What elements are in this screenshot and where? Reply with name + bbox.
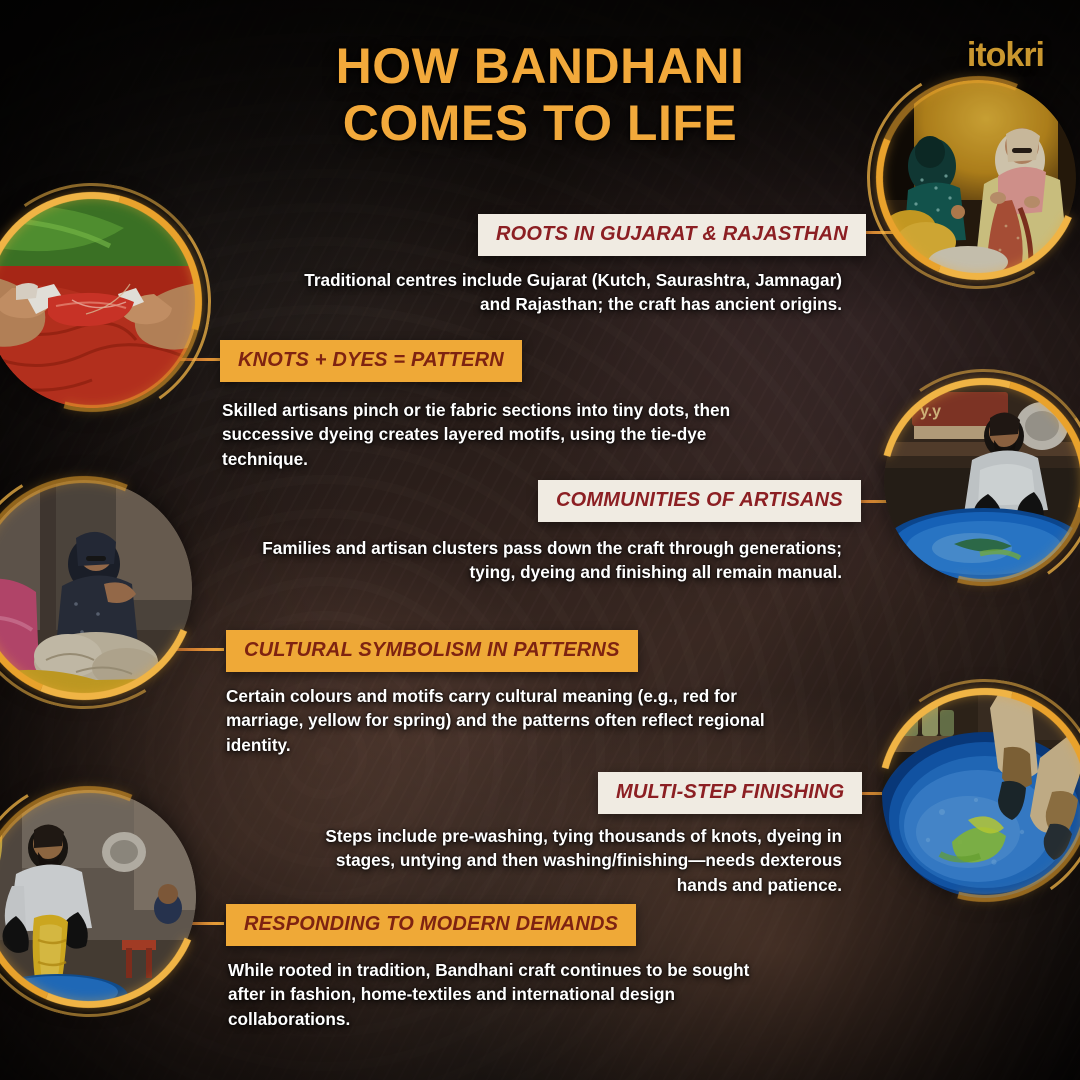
section-body-responding-to-modern-demands: While rooted in tradition, Bandhani craf… <box>228 958 776 1031</box>
connector-line-2 <box>176 358 226 361</box>
photo-blue-dye-vat <box>882 692 1080 898</box>
photo-artisan-dyeing-tub: y.y <box>884 382 1080 582</box>
photo-artisan-dyeing-tub-art: y.y <box>884 382 1080 582</box>
page-title-line-2: COMES TO LIFE <box>0 95 1080 152</box>
section-heading-multi-step-finishing: MULTI-STEP FINISHING <box>598 772 862 814</box>
section-body-multi-step-finishing: Steps include pre-washing, tying thousan… <box>318 824 842 897</box>
section-body-communities-of-artisans: Families and artisan clusters pass down … <box>238 536 842 585</box>
infographic-poster: y.y <box>0 0 1080 1080</box>
section-body-cultural-symbolism-in-patterns: Certain colours and motifs carry cultura… <box>226 684 766 757</box>
section-heading-communities-of-artisans: COMMUNITIES OF ARTISANS <box>538 480 861 522</box>
section-heading-knots-dyes-pattern: KNOTS + DYES = PATTERN <box>220 340 522 382</box>
photo-blue-dye-vat-art <box>882 692 1080 898</box>
section-body-roots-in-gujarat-rajasthan: Traditional centres include Gujarat (Kut… <box>272 268 842 317</box>
section-body-knots-dyes-pattern: Skilled artisans pinch or tie fabric sec… <box>222 398 752 471</box>
page-title: HOW BANDHANI COMES TO LIFE <box>0 38 1080 152</box>
brand-logo[interactable]: itokri <box>967 38 1044 72</box>
section-heading-roots-in-gujarat-rajasthan: ROOTS IN GUJARAT & RAJASTHAN <box>478 214 866 256</box>
page-title-line-1: HOW BANDHANI <box>0 38 1080 95</box>
section-heading-responding-to-modern-demands: RESPONDING TO MODERN DEMANDS <box>226 904 636 946</box>
connector-line-3 <box>168 648 224 651</box>
section-heading-cultural-symbolism-in-patterns: CULTURAL SYMBOLISM IN PATTERNS <box>226 630 638 672</box>
